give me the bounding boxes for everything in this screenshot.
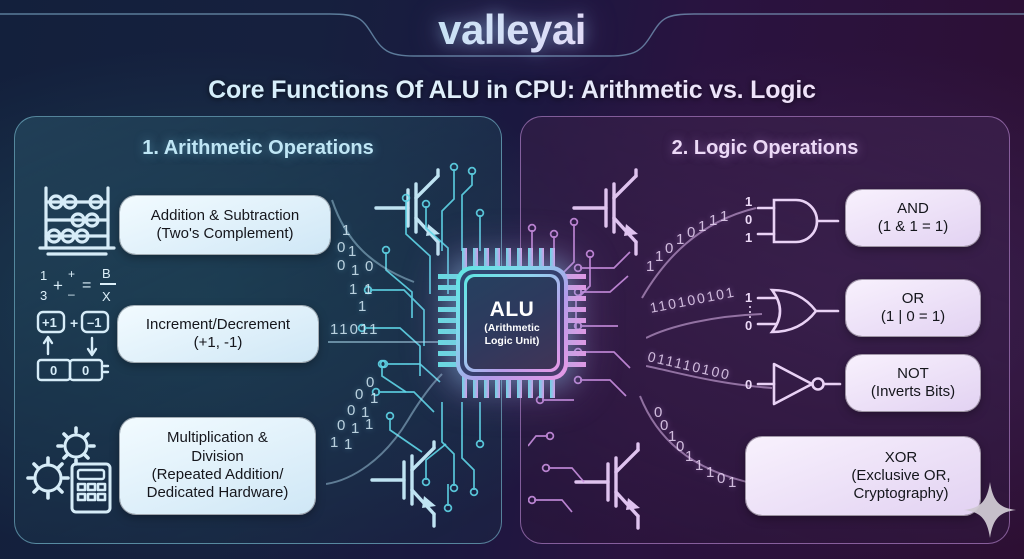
svg-text:+: + bbox=[70, 315, 78, 331]
svg-text:1: 1 bbox=[745, 194, 752, 209]
card-increment-line1: Increment/Decrement bbox=[146, 316, 290, 334]
svg-text:1: 1 bbox=[40, 268, 47, 283]
card-increment-line2: (+1, -1) bbox=[146, 334, 290, 352]
svg-text:3: 3 bbox=[40, 288, 47, 303]
binary-stream-xor-curve bbox=[630, 392, 760, 502]
card-and-gate[interactable]: AND (1 & 1 = 1) bbox=[846, 190, 980, 246]
chip-pins-left bbox=[438, 248, 458, 398]
card-addition-line1: Addition & Subtraction bbox=[151, 207, 299, 225]
binary-stream-left-middle: 11011 bbox=[330, 321, 380, 338]
and-gate-icon: 101 bbox=[744, 192, 844, 250]
svg-text:1: 1 bbox=[745, 290, 752, 305]
svg-text:+: + bbox=[53, 276, 63, 295]
pcb-traces-right-lower bbox=[528, 390, 628, 540]
card-addition-subtraction[interactable]: Addition & Subtraction (Two's Complement… bbox=[120, 196, 330, 254]
card-not-line1: NOT bbox=[871, 365, 955, 383]
not-gate-icon: 0 bbox=[744, 358, 844, 410]
svg-text:0: 0 bbox=[50, 363, 57, 378]
svg-text:0: 0 bbox=[82, 363, 89, 378]
sparkle-decoration-icon bbox=[962, 480, 1018, 540]
increment-decrement-icon: +1 + –1 0 0 bbox=[34, 308, 126, 384]
card-increment-decrement[interactable]: Increment/Decrement (+1, -1) bbox=[118, 306, 318, 362]
card-and-line1: AND bbox=[878, 200, 948, 218]
gears-calculator-icon bbox=[20, 420, 116, 514]
svg-text:–: – bbox=[68, 287, 75, 301]
svg-text:+1: +1 bbox=[42, 315, 57, 330]
svg-text:+: + bbox=[68, 267, 75, 281]
svg-text:=: = bbox=[82, 277, 91, 294]
chip-title: ALU bbox=[490, 299, 535, 321]
card-mult-line1: Multiplication & bbox=[147, 429, 289, 447]
card-xor-line3: Cryptography) bbox=[832, 485, 970, 503]
card-not-line2: (Inverts Bits) bbox=[871, 383, 955, 401]
svg-text:0: 0 bbox=[745, 212, 752, 227]
card-mult-line4: Dedicated Hardware) bbox=[147, 484, 289, 502]
svg-text:1: 1 bbox=[745, 230, 752, 245]
svg-text:0: 0 bbox=[745, 318, 752, 333]
chip-subtitle-line2: Logic Unit) bbox=[485, 335, 540, 347]
card-or-line1: OR bbox=[881, 290, 945, 308]
card-mult-line3: (Repeated Addition/ bbox=[147, 466, 289, 484]
svg-text:0: 0 bbox=[745, 377, 752, 392]
card-or-line2: (1 | 0 = 1) bbox=[881, 308, 945, 326]
brand-logo: valleyai bbox=[0, 6, 1024, 54]
chip-pins-right bbox=[566, 248, 586, 398]
or-gate-icon: 10 bbox=[744, 282, 844, 340]
card-and-line2: (1 & 1 = 1) bbox=[878, 218, 948, 236]
alu-chip[interactable]: ALU (Arithmetic Logic Unit) bbox=[438, 248, 586, 398]
abacus-icon bbox=[34, 182, 120, 258]
card-xor-line1: XOR bbox=[832, 449, 970, 467]
card-or-gate[interactable]: OR (1 | 0 = 1) bbox=[846, 280, 980, 336]
fraction-equation-icon: 1 3 + + – = B X bbox=[36, 262, 126, 306]
infographic-canvas: valleyai Core Functions Of ALU in CPU: A… bbox=[0, 0, 1024, 559]
card-mult-line2: Division bbox=[147, 448, 289, 466]
chip-subtitle-line1: (Arithmetic bbox=[484, 322, 539, 334]
chip-body: ALU (Arithmetic Logic Unit) bbox=[456, 266, 568, 380]
page-title: Core Functions Of ALU in CPU: Arithmetic… bbox=[0, 76, 1024, 105]
card-not-gate[interactable]: NOT (Inverts Bits) bbox=[846, 355, 980, 411]
card-xor-gate[interactable]: XOR (Exclusive OR, Cryptography) bbox=[746, 437, 980, 515]
logic-panel-heading: 2. Logic Operations bbox=[521, 137, 1009, 160]
card-xor-line2: (Exclusive OR, bbox=[832, 467, 970, 485]
card-multiplication-division[interactable]: Multiplication & Division (Repeated Addi… bbox=[120, 418, 315, 514]
svg-text:B: B bbox=[102, 266, 111, 281]
svg-text:–1: –1 bbox=[87, 315, 101, 330]
card-addition-line2: (Two's Complement) bbox=[151, 225, 299, 243]
svg-text:X: X bbox=[102, 289, 111, 304]
